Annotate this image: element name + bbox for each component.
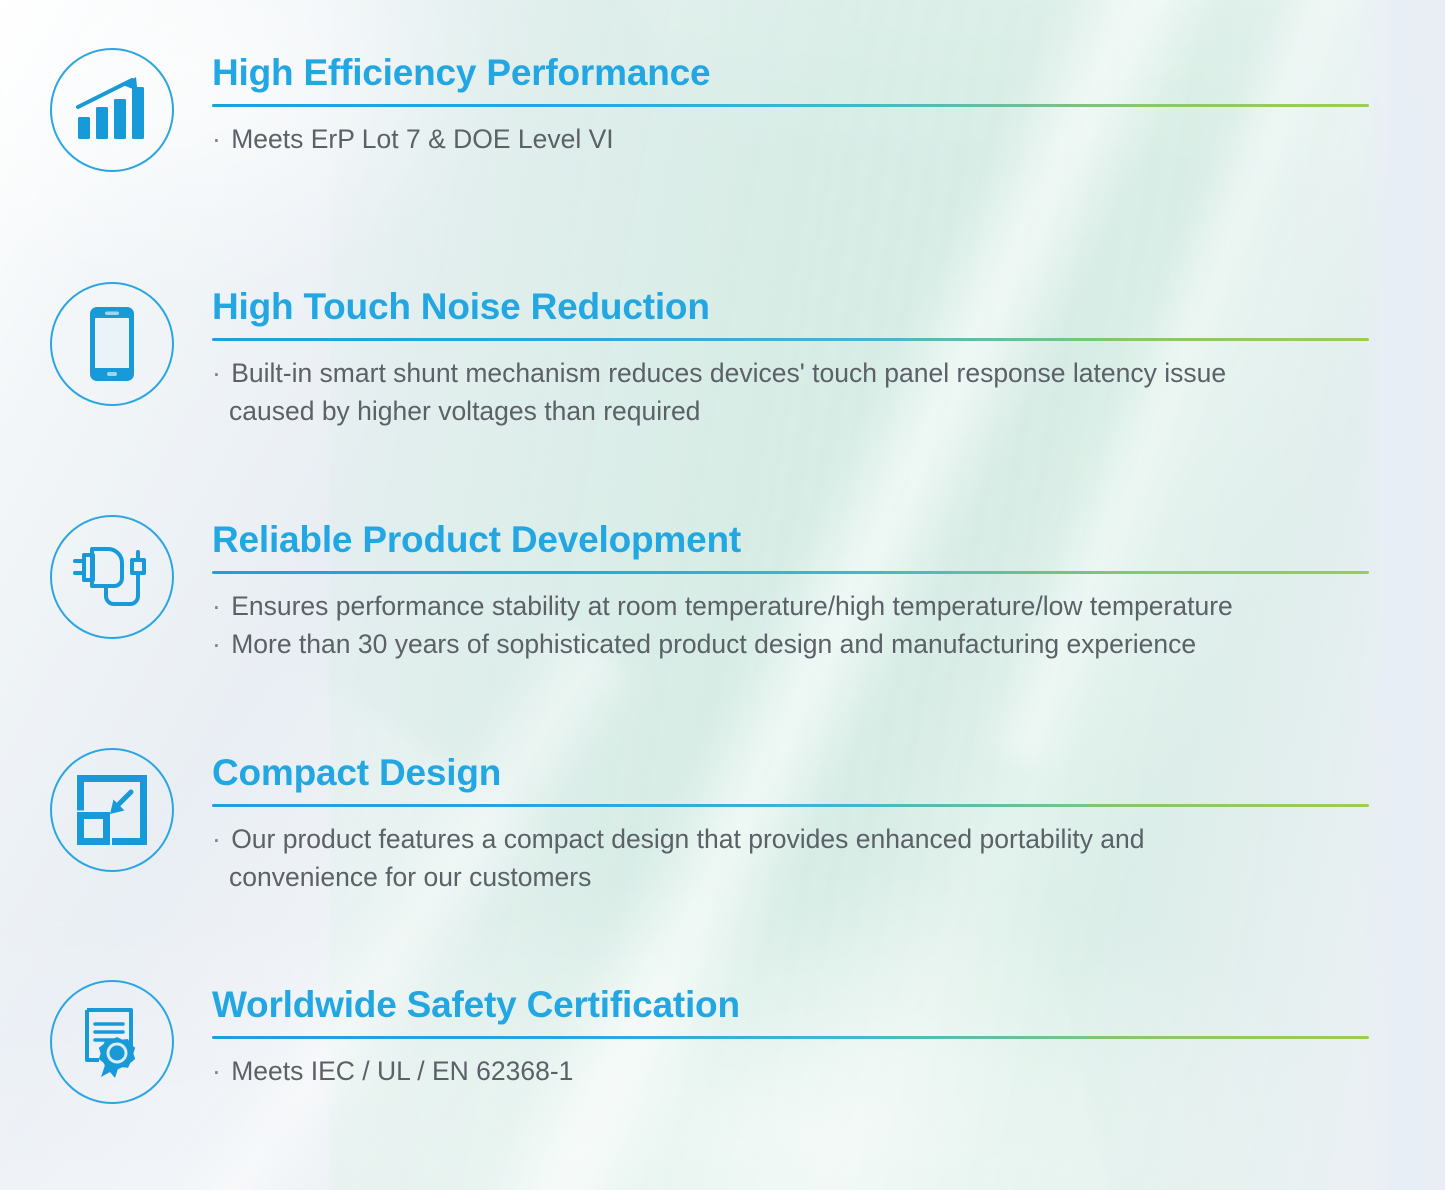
bullet-marker: · xyxy=(212,124,228,154)
feature-item-reliable-product-development: Reliable Product Development · Ensures p… xyxy=(50,515,1390,663)
feature-line-text: More than 30 years of sophisticated prod… xyxy=(231,629,1196,659)
feature-divider xyxy=(212,1036,1369,1039)
feature-body: Compact Design · Our product features a … xyxy=(212,748,1390,896)
feature-body: High Touch Noise Reduction · Built-in sm… xyxy=(212,282,1390,430)
feature-body: Worldwide Safety Certification · Meets I… xyxy=(212,980,1390,1090)
feature-divider xyxy=(212,104,1369,107)
feature-description: · Meets ErP Lot 7 & DOE Level VI xyxy=(212,120,1390,158)
feature-title: High Efficiency Performance xyxy=(212,54,1390,93)
feature-description: · Built-in smart shunt mechanism reduces… xyxy=(212,354,1390,430)
feature-line: · Meets ErP Lot 7 & DOE Level VI xyxy=(212,120,1390,158)
feature-item-high-efficiency-performance: High Efficiency Performance · Meets ErP … xyxy=(50,48,1390,172)
feature-line-text: Built-in smart shunt mechanism reduces d… xyxy=(231,358,1226,388)
feature-line: · Our product features a compact design … xyxy=(212,820,1390,896)
feature-line-text: Meets IEC / UL / EN 62368-1 xyxy=(231,1056,573,1086)
feature-body: High Efficiency Performance · Meets ErP … xyxy=(212,48,1390,158)
feature-divider xyxy=(212,804,1369,807)
feature-title: Reliable Product Development xyxy=(212,521,1390,560)
feature-item-high-touch-noise-reduction: High Touch Noise Reduction · Built-in sm… xyxy=(50,282,1390,430)
bullet-marker: · xyxy=(212,591,228,621)
feature-title: Worldwide Safety Certification xyxy=(212,986,1390,1025)
feature-body: Reliable Product Development · Ensures p… xyxy=(212,515,1390,663)
feature-line-text: Meets ErP Lot 7 & DOE Level VI xyxy=(231,124,613,154)
feature-title: Compact Design xyxy=(212,754,1390,793)
feature-divider xyxy=(212,571,1369,574)
feature-line: · Ensures performance stability at room … xyxy=(212,587,1390,625)
bullet-marker: · xyxy=(212,824,228,854)
feature-divider xyxy=(212,338,1369,341)
bullet-marker: · xyxy=(212,629,228,659)
feature-title: High Touch Noise Reduction xyxy=(212,288,1390,327)
feature-line-continuation: caused by higher voltages than required xyxy=(212,392,1390,430)
bullet-marker: · xyxy=(212,1056,228,1086)
compact-resize-icon xyxy=(50,748,174,872)
feature-line: · Meets IEC / UL / EN 62368-1 xyxy=(212,1052,1390,1090)
feature-list: High Efficiency Performance · Meets ErP … xyxy=(0,0,1445,1190)
feature-line-text: Ensures performance stability at room te… xyxy=(231,591,1233,621)
feature-item-compact-design: Compact Design · Our product features a … xyxy=(50,748,1390,896)
feature-description: · Ensures performance stability at room … xyxy=(212,587,1390,663)
power-adapter-icon xyxy=(50,515,174,639)
feature-line-continuation: convenience for our customers xyxy=(212,858,1390,896)
feature-item-worldwide-safety-certification: Worldwide Safety Certification · Meets I… xyxy=(50,980,1390,1104)
feature-line-text: Our product features a compact design th… xyxy=(231,824,1144,854)
bullet-marker: · xyxy=(212,358,228,388)
certificate-seal-icon xyxy=(50,980,174,1104)
feature-description: · Our product features a compact design … xyxy=(212,820,1390,896)
feature-line: · More than 30 years of sophisticated pr… xyxy=(212,625,1390,663)
bar-chart-growth-icon xyxy=(50,48,174,172)
feature-highlights-slide: High Efficiency Performance · Meets ErP … xyxy=(0,0,1445,1190)
smartphone-icon xyxy=(50,282,174,406)
feature-description: · Meets IEC / UL / EN 62368-1 xyxy=(212,1052,1390,1090)
feature-line: · Built-in smart shunt mechanism reduces… xyxy=(212,354,1390,430)
